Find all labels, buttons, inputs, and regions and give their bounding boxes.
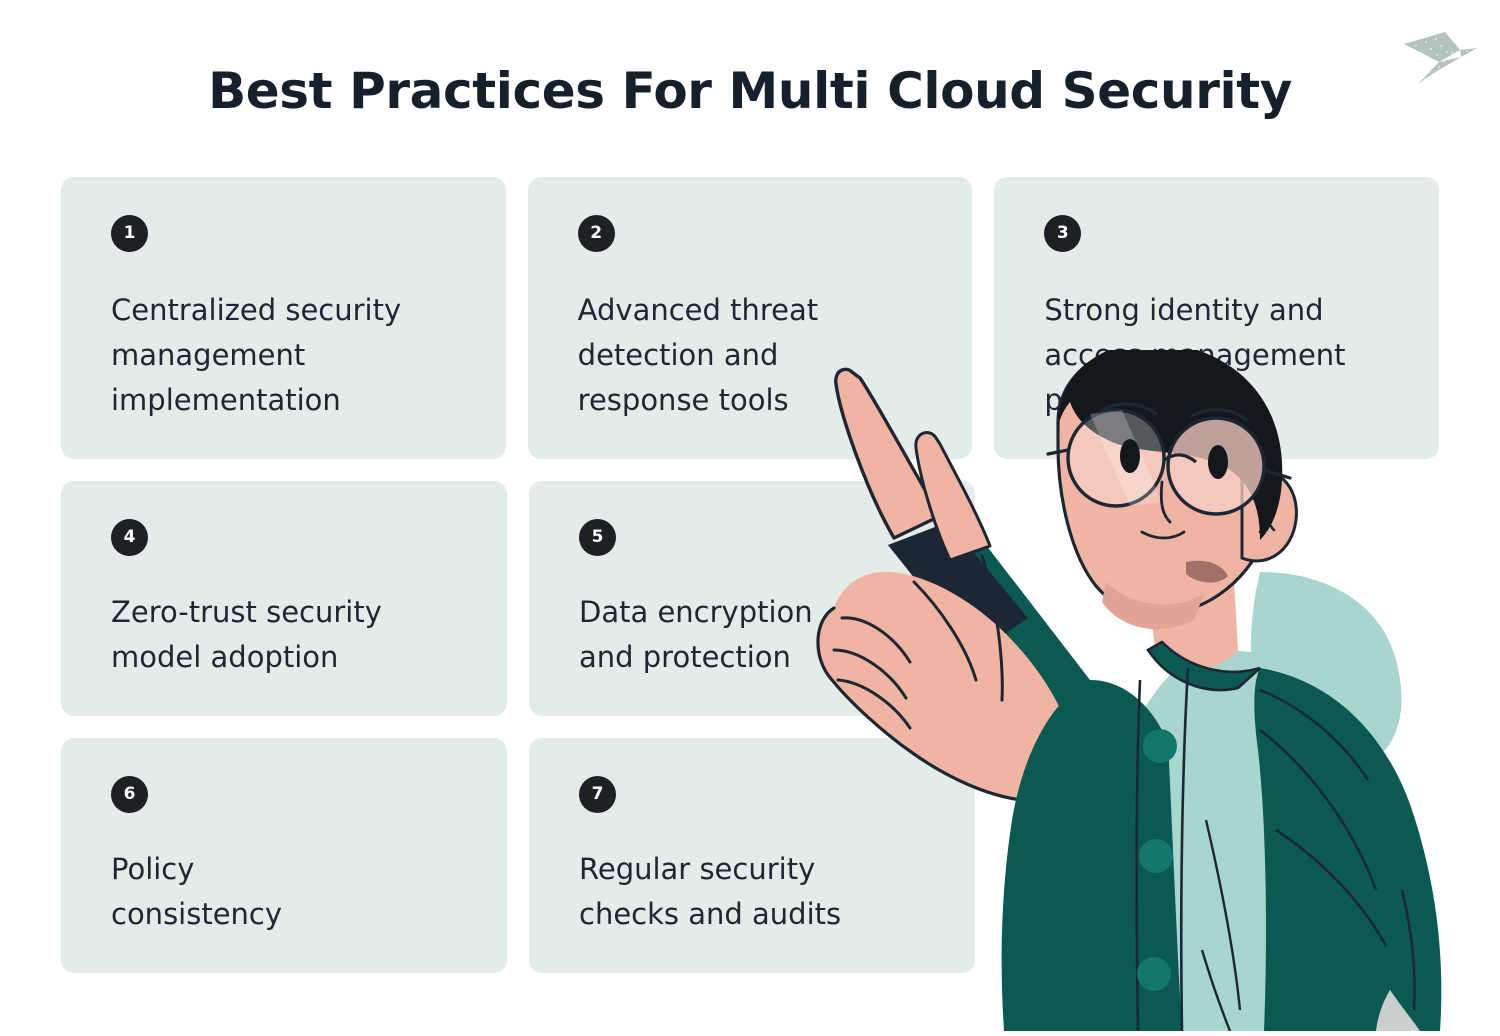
practice-card-5[interactable]: 5 Data encryption and protection — [529, 481, 975, 716]
card-text: Policy consistency — [111, 847, 441, 937]
practice-card-3[interactable]: 3 Strong identity and access management … — [994, 177, 1439, 459]
practice-card-7[interactable]: 7 Regular security checks and audits — [529, 738, 975, 973]
card-number-badge: 6 — [111, 776, 148, 813]
card-text: Centralized security management implemen… — [111, 288, 441, 423]
card-number-badge: 3 — [1044, 215, 1081, 252]
practices-card-grid: 1 Centralized security management implem… — [61, 177, 1439, 995]
practice-card-2[interactable]: 2 Advanced threat detection and response… — [528, 177, 973, 459]
card-number-badge: 2 — [578, 215, 615, 252]
card-number-badge: 7 — [579, 776, 616, 813]
card-text: Advanced threat detection and response t… — [578, 288, 908, 423]
card-text: Zero-trust security model adoption — [111, 590, 441, 680]
page-title: Best Practices For Multi Cloud Security — [0, 62, 1500, 120]
practice-card-6[interactable]: 6 Policy consistency — [61, 738, 507, 973]
card-row-3: 6 Policy consistency 7 Regular security … — [61, 738, 1439, 973]
card-text: Strong identity and access management pr… — [1044, 288, 1374, 423]
card-number-badge: 4 — [111, 519, 148, 556]
card-row-1: 1 Centralized security management implem… — [61, 177, 1439, 459]
practice-card-1[interactable]: 1 Centralized security management implem… — [61, 177, 506, 459]
card-text: Regular security checks and audits — [579, 847, 909, 937]
practice-card-4[interactable]: 4 Zero-trust security model adoption — [61, 481, 507, 716]
card-row-2: 4 Zero-trust security model adoption 5 D… — [61, 481, 1439, 716]
card-text: Data encryption and protection — [579, 590, 909, 680]
card-number-badge: 1 — [111, 215, 148, 252]
card-number-badge: 5 — [579, 519, 616, 556]
